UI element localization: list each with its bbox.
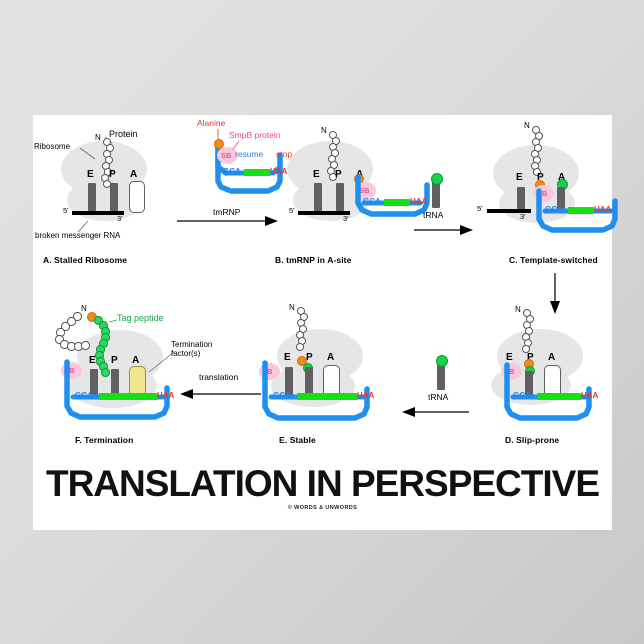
uaa-codon-label: UAA bbox=[594, 205, 611, 214]
three-prime-label: 3' bbox=[117, 214, 123, 223]
tmrnp-molecule bbox=[251, 305, 411, 440]
gca-codon-label: GCA bbox=[513, 391, 531, 400]
arrow-d-to-e-label: tRNA bbox=[428, 392, 448, 402]
poster-background: Ribosome Protein N broken messenger RNA … bbox=[0, 0, 644, 644]
panel-c-template-switched: N E P A SB 5' 3' GCA UAA C. Template-swi… bbox=[471, 115, 641, 260]
panel-c-label: C. Template-switched bbox=[509, 255, 598, 265]
gca-codon-label: GCA bbox=[273, 391, 291, 400]
alanine-label: Alanine bbox=[197, 118, 225, 128]
tag-orf-bar bbox=[537, 393, 581, 400]
panel-d-slip-prone: N E P A SB GCA UAA D. Slip-prone bbox=[473, 305, 633, 440]
tag-orf-bar bbox=[568, 207, 594, 214]
ribosome-label: Ribosome bbox=[34, 142, 70, 151]
five-prime-label: 5' bbox=[63, 206, 69, 215]
panel-b-label: B. tmRNP in A-site bbox=[275, 255, 351, 265]
n-terminus-label: N bbox=[95, 133, 101, 142]
gca-codon-label: GCA bbox=[363, 197, 381, 206]
panel-a-label: A. Stalled Ribosome bbox=[43, 255, 127, 265]
panel-e-label: E. Stable bbox=[279, 435, 316, 445]
a-site-empty bbox=[129, 181, 145, 213]
poster-sheet: Ribosome Protein N broken messenger RNA … bbox=[33, 115, 612, 530]
arrow-a-to-b-label: tmRNP bbox=[213, 207, 240, 217]
broken-mrna-label: broken messenger RNA bbox=[35, 231, 120, 240]
gca-codon-label: GCA bbox=[545, 205, 563, 214]
uaa-codon-label: UAA bbox=[581, 391, 598, 400]
panel-e-stable: N E P A SB GCA UAA E. Stable bbox=[251, 305, 411, 440]
trna-p-site bbox=[110, 183, 118, 211]
trna-e-site bbox=[88, 183, 96, 211]
tmrnp-molecule bbox=[473, 305, 633, 440]
ribosome-site-a: A bbox=[130, 169, 137, 180]
panel-f-termination: N Tag peptide Termination factor(s) E P bbox=[41, 300, 226, 440]
tag-orf-bar bbox=[99, 393, 157, 400]
arrow-b-to-c-label: tRNA bbox=[423, 210, 443, 220]
protein-label: Protein bbox=[109, 129, 138, 139]
resume-codon-label: resume bbox=[235, 149, 263, 159]
gca-codon-label: GCA bbox=[223, 167, 241, 176]
ribosome-site-e: E bbox=[87, 169, 94, 180]
page-title: TRANSLATION IN PERSPECTIVE bbox=[33, 463, 612, 505]
trna-icon-aminoacyl-dot bbox=[431, 173, 443, 185]
ribosome-site-p: P bbox=[109, 169, 116, 180]
copyright-notice: © WORDS & UNWORDS bbox=[33, 505, 612, 511]
tmrnp-molecule bbox=[41, 300, 226, 440]
trna-icon-aminoacyl-dot bbox=[436, 355, 448, 367]
panel-d-label: D. Slip-prone bbox=[505, 435, 559, 445]
uaa-codon-label: UAA bbox=[157, 391, 174, 400]
uaa-codon-label: UAA bbox=[357, 391, 374, 400]
gca-codon-label: GCA bbox=[75, 391, 93, 400]
panel-f-label: F. Termination bbox=[75, 435, 133, 445]
tmrnp-molecule bbox=[471, 115, 641, 260]
tag-orf-bar bbox=[297, 393, 357, 400]
